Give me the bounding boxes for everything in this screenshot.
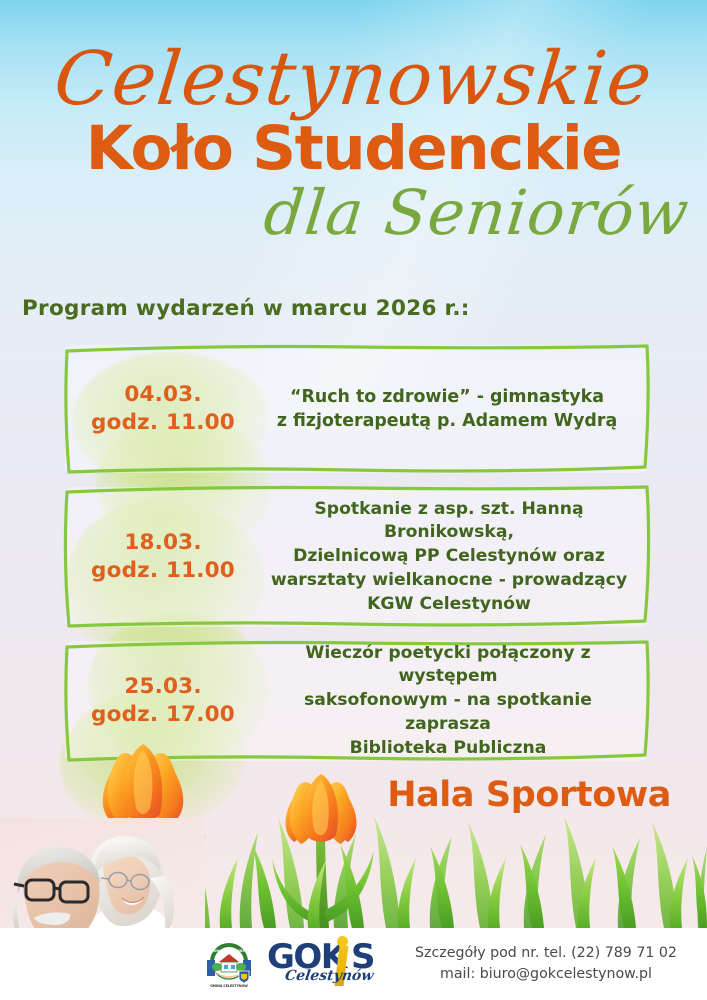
gokis-subtitle: Celestynów (284, 968, 375, 984)
event-box: 18.03. godz. 11.00 Spotkanie z asp. szt.… (65, 487, 647, 627)
contact-email: mail: biuro@gokcelestynow.pl (405, 964, 687, 985)
event-description: “Ruch to zdrowie” - gimnastyka z fizjote… (261, 385, 647, 433)
event-description-line: KGW Celestynów (265, 593, 633, 617)
event-box: 04.03. godz. 11.00 “Ruch to zdrowie” - g… (65, 345, 647, 473)
title-bold-middle: Koło Studenckie (0, 118, 707, 179)
footer-logos: GMINA CELESTYNÓW GMINA CE (205, 938, 379, 990)
svg-text:GMINA CELESTYNÓW: GMINA CELESTYNÓW (209, 948, 249, 953)
event-time: godz. 11.00 (65, 557, 261, 585)
venue-label: Hala Sportowa (387, 775, 671, 815)
contact-phone: Szczegóły pod nr. tel. (22) 789 71 02 (405, 943, 687, 964)
footer-bar: GMINA CELESTYNÓW GMINA CE (0, 928, 707, 1000)
gmina-crest-icon: GMINA CELESTYNÓW GMINA CE (205, 940, 253, 988)
poster-canvas: Celestynowskie Koło Studenckie dla Senio… (0, 0, 707, 1000)
event-date-time: 25.03. godz. 17.00 (65, 673, 261, 730)
gmina-logo-caption: GMINA CELESTYNÓW (210, 983, 248, 988)
event-description-line: z fizjoterapeutą p. Adamem Wydrą (261, 409, 633, 433)
event-description-line: “Ruch to zdrowie” - gimnastyka (261, 385, 633, 409)
title-script-top: Celestynowskie (0, 42, 707, 116)
gmina-celestynow-logo-icon: GMINA CELESTYNÓW GMINA CE (205, 940, 253, 988)
event-description-line: saksofonowym - na spotkanie zaprasza (263, 689, 633, 736)
event-date: 04.03. (65, 381, 261, 409)
event-time: godz. 17.00 (65, 701, 261, 729)
event-description-line: Dzielnicową PP Celestynów oraz (265, 545, 633, 569)
event-date: 18.03. (65, 529, 261, 557)
event-description-line: Wieczór poetycki połączony z występem (263, 642, 633, 689)
event-time: godz. 11.00 (65, 409, 261, 437)
event-description: Spotkanie z asp. szt. Hanną Bronikowską,… (261, 498, 647, 617)
event-description-line: Biblioteka Publiczna (263, 737, 633, 761)
title-script-bottom: dla Seniorów (0, 182, 707, 244)
program-heading: Program wydarzeń w marcu 2026 r.: (22, 296, 470, 321)
contact-info: Szczegóły pod nr. tel. (22) 789 71 02 ma… (405, 943, 707, 986)
event-box: 25.03. godz. 17.00 Wieczór poetycki połą… (65, 641, 647, 761)
event-description-line: warsztaty wielkanocne - prowadzący (265, 569, 633, 593)
gokis-i-dot-icon (337, 936, 348, 947)
event-description: Wieczór poetycki połączony z występem sa… (261, 642, 647, 761)
event-description-line: Spotkanie z asp. szt. Hanną Bronikowską, (265, 498, 633, 545)
event-date: 25.03. (65, 673, 261, 701)
gokis-logo: GOK S Celestynów (267, 938, 379, 990)
event-date-time: 18.03. godz. 11.00 (65, 529, 261, 586)
event-date-time: 04.03. godz. 11.00 (65, 381, 261, 438)
